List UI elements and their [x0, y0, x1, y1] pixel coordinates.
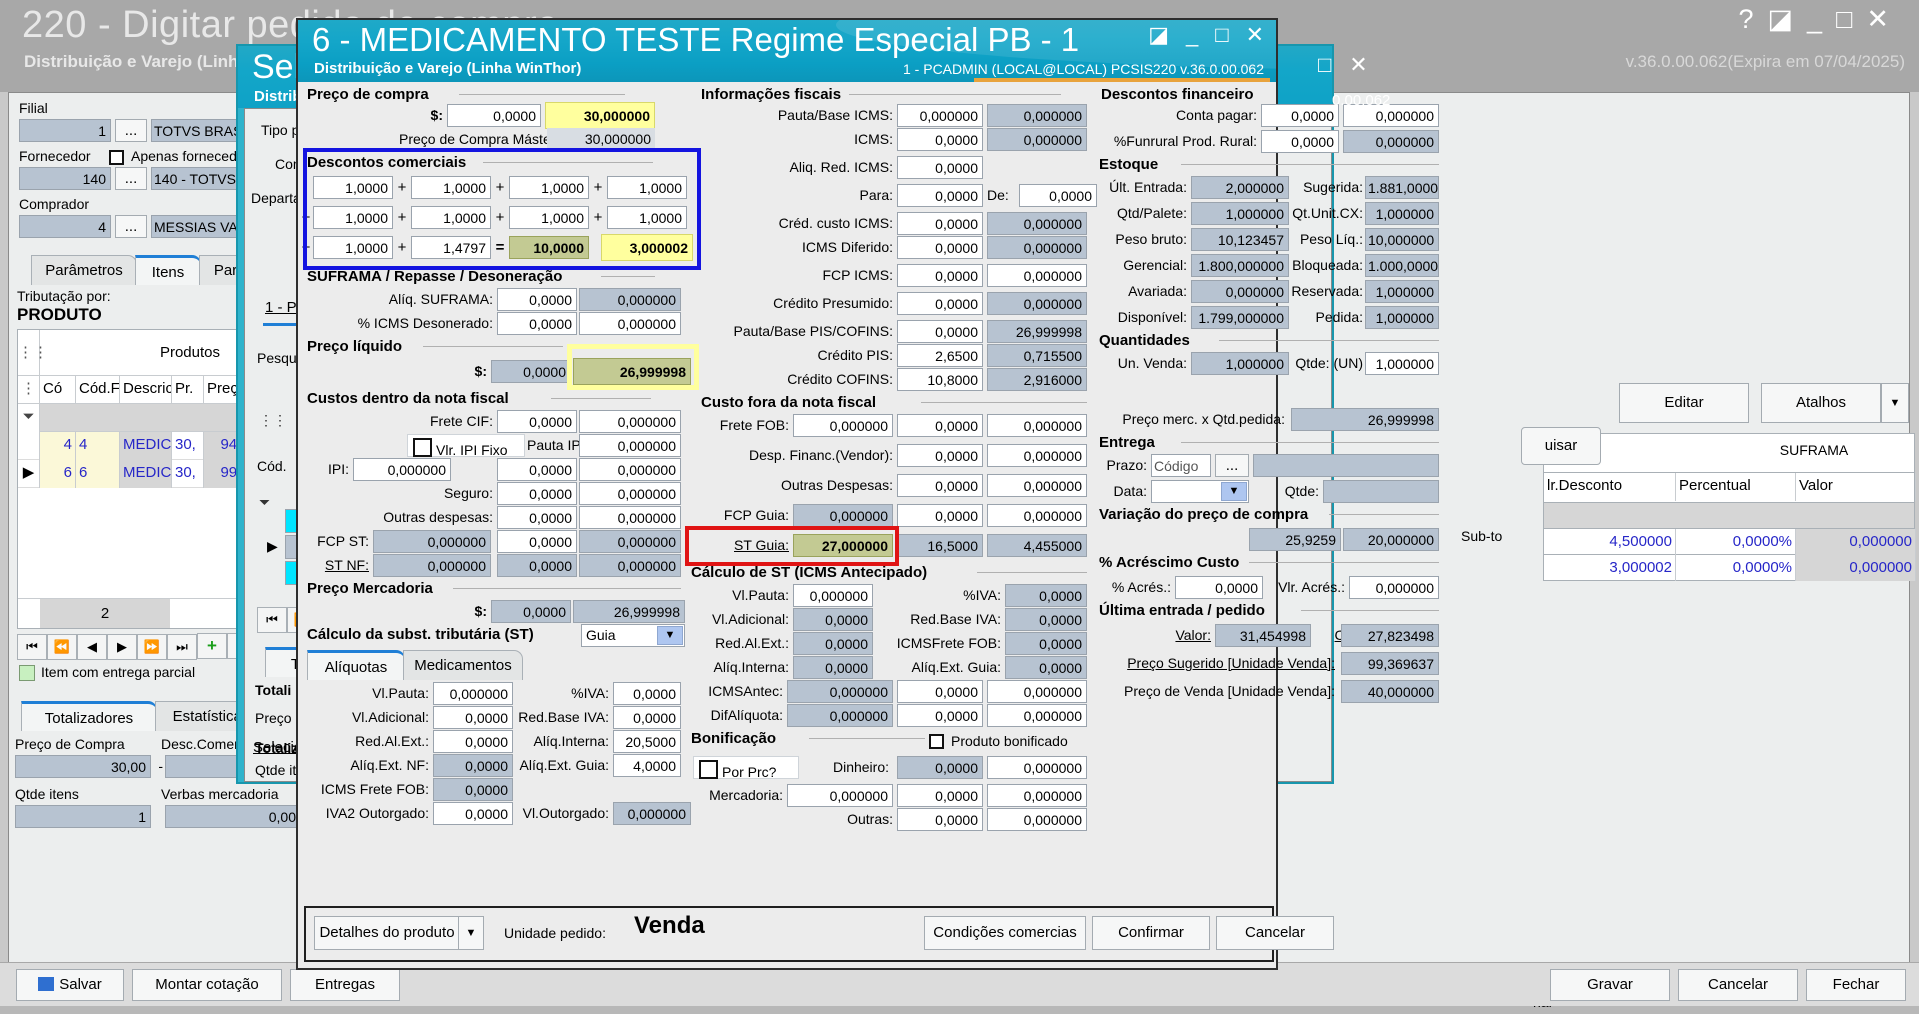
st-redalext-value[interactable]: 0,0000: [433, 730, 513, 753]
desc-r2-c1[interactable]: 1,0000: [313, 206, 393, 229]
cell-descr: MEDICA: [120, 432, 172, 460]
preco-merc-left: 0,0000: [491, 600, 571, 623]
st-aliqinterna-label: Alíq.Interna:: [507, 730, 609, 753]
desc-r3-c2[interactable]: 1,4797: [411, 236, 491, 259]
aliq-suframa-input[interactable]: 0,0000: [497, 288, 577, 311]
est-0-l2: Sugerida:: [1293, 176, 1363, 199]
por-prc-checkbox[interactable]: [699, 760, 718, 779]
outras-despesas-v2[interactable]: 0,000000: [579, 506, 681, 529]
cf-3-v0: 0,000000: [793, 504, 893, 527]
por-prc-label: Por Prc?: [722, 764, 776, 780]
row-selector-icon-2: ▶: [267, 535, 278, 558]
ipi-v2[interactable]: 0,000000: [579, 458, 681, 481]
desc-r2-c2[interactable]: 1,0000: [411, 206, 491, 229]
icms-desonerado-label: % ICMS Desonerado:: [311, 312, 493, 335]
cell-cod: 4: [40, 432, 76, 460]
departamento-label: Departa: [251, 187, 301, 210]
group-calc-st-antecipado: Cálculo de ST (ICMS Antecipado): [691, 564, 927, 581]
qtde-itens-label: Qtde itens: [15, 783, 79, 806]
cst-l2-value: 0,0000: [793, 632, 873, 655]
mercadoria-v2[interactable]: 0,000000: [987, 784, 1087, 807]
comprador-browse-button[interactable]: ...: [115, 215, 147, 238]
plus-sign: +: [591, 206, 605, 229]
tab-medicamentos[interactable]: Medicamentos: [403, 650, 523, 680]
plus-sign: +: [591, 176, 605, 199]
if-7-v2: 0,000000: [987, 292, 1087, 315]
outras-despesas-v1[interactable]: 0,0000: [497, 506, 577, 529]
entrega-qtde-label: Qtde:: [1253, 480, 1319, 503]
editar-button[interactable]: Editar: [1619, 383, 1749, 423]
restore-icon[interactable]: ◪: [1768, 4, 1808, 34]
frete-cif-label: Frete CIF:: [311, 410, 493, 433]
dlg-maximize-icon[interactable]: □: [1215, 22, 1228, 47]
frete-cif-v1[interactable]: 0,0000: [497, 410, 577, 433]
cf-0-v2[interactable]: 0,000000: [987, 414, 1087, 437]
preco-sugerido-value: 99,369637: [1341, 652, 1439, 675]
cf-0-label: Frete FOB:: [691, 414, 789, 437]
row-selector-icon: ▶: [18, 460, 40, 488]
entrega-qtde-value: [1323, 480, 1439, 503]
cf-4-label[interactable]: ST Guia:: [691, 534, 789, 557]
vlr-ipi-fixo-checkbox-wrap[interactable]: Vlr. IPI Fixo: [407, 434, 525, 457]
pct-acres-label: % Acrés.:: [1091, 576, 1171, 599]
preco-merc-qtd-label: Preço merc. x Qtd.pedida:: [1091, 408, 1285, 431]
group-custo-fora: Custo fora da nota fiscal: [701, 394, 876, 411]
if-0-v1[interactable]: 0,000000: [897, 104, 983, 127]
cst-w0-label: ICMSAntec:: [687, 680, 783, 703]
st-aliqextnf-value: 0,0000: [433, 754, 513, 777]
comprador-code-input[interactable]: 4: [19, 215, 111, 238]
right-grid-filter-row[interactable]: [1543, 503, 1915, 529]
pesquisar-button[interactable]: uisar: [1521, 427, 1601, 465]
cell-pr: 30,: [172, 432, 204, 460]
ipi-label: IPI:: [311, 458, 349, 481]
desc-r1-c2[interactable]: 1,0000: [411, 176, 491, 199]
cst-w0-v1[interactable]: 0,0000: [897, 680, 983, 703]
cell-desconto: 4,500000: [1544, 529, 1676, 555]
produto-bonificado-checkbox[interactable]: [929, 734, 944, 749]
table-row[interactable]: 4,500000 0,0000% 0,000000: [1543, 529, 1915, 555]
df-1-v2: 0,000000: [1343, 130, 1439, 153]
filter-icon-2[interactable]: ⏷: [259, 491, 270, 514]
cell-percentual: 0,0000%: [1676, 529, 1796, 555]
seguro-v2[interactable]: 0,000000: [579, 482, 681, 505]
if-0-label: Pauta/Base ICMS:: [701, 104, 893, 127]
cell-desconto: 3,000002: [1544, 555, 1676, 581]
if-1-v1[interactable]: 0,0000: [897, 128, 983, 151]
grid-handle-icon-3: ⋮⋮: [259, 409, 287, 432]
if-3-v1[interactable]: 0,0000: [897, 184, 983, 207]
select-dialog-version: 0.00.062: [1332, 92, 1390, 109]
cst-w0-v2[interactable]: 0,000000: [987, 680, 1087, 703]
gravar-button[interactable]: Gravar: [1550, 969, 1670, 1001]
pauta-ipi-value[interactable]: 0,000000: [579, 434, 681, 457]
dinheiro-v1[interactable]: 0,000000: [987, 756, 1087, 779]
est-5-l1: Disponível:: [1091, 306, 1187, 329]
grid-row-count: 2: [40, 599, 170, 628]
est-1-v2: 1,000000: [1365, 202, 1439, 225]
est-2-v2: 10,000000: [1365, 228, 1439, 251]
bonif-outras-v2[interactable]: 0,000000: [987, 808, 1087, 831]
cancelar-button[interactable]: Cancelar: [1678, 969, 1798, 1001]
if-10-v1[interactable]: 10,8000: [897, 368, 983, 391]
est-3-v1: 1.800,000000: [1191, 254, 1289, 277]
icms-desonerado-input[interactable]: 0,0000: [497, 312, 577, 335]
filter-icon[interactable]: ⏷: [18, 404, 40, 432]
cf-1-v1[interactable]: 0,0000: [897, 444, 983, 467]
desc-r1-c3[interactable]: 1,0000: [509, 176, 589, 199]
preco-merc-dollar-label: $:: [443, 600, 487, 623]
if-2-v1[interactable]: 0,0000: [897, 156, 983, 179]
st-vladicional-value[interactable]: 0,0000: [433, 706, 513, 729]
sel-nav-first-button[interactable]: ⏮: [257, 607, 287, 633]
nav-first-button[interactable]: ⏮: [17, 634, 47, 660]
col-cod[interactable]: Có: [40, 376, 76, 404]
legend-color-swatch: [19, 665, 35, 681]
detalhes-produto-button[interactable]: Detalhes do produto: [314, 916, 460, 950]
un-venda-label: Un. Venda:: [1091, 352, 1187, 375]
prazo-browse-button[interactable]: ...: [1215, 454, 1249, 477]
table-row[interactable]: 3,000002 0,0000% 0,000000: [1543, 555, 1915, 581]
preco-liquido-right: 26,999998: [573, 358, 691, 385]
qtde-itens-value: 1: [15, 805, 151, 828]
frete-cif-v2[interactable]: 0,000000: [579, 410, 681, 433]
group-suframa: SUFRAMA / Repasse / Desoneração: [307, 268, 562, 285]
fornecedor-label: Fornecedor: [19, 145, 91, 168]
df-0-label: Conta pagar:: [1101, 104, 1257, 127]
cst-l2-label: Red.Al.Ext.:: [701, 632, 789, 655]
if-9-v1[interactable]: 2,6500: [897, 344, 983, 367]
atalhos-button[interactable]: Atalhos: [1761, 383, 1881, 423]
if-8-v1[interactable]: 0,0000: [897, 320, 983, 343]
est-3-l1: Gerencial:: [1091, 254, 1187, 277]
preco-sugerido-label[interactable]: Preço Sugerido [Unidade Venda]:: [1091, 652, 1335, 675]
aliq-suframa-value: 0,000000: [579, 288, 681, 311]
grid-handle-icon: ⋮⋮: [18, 330, 40, 375]
dialog-titlebar: 6 - MEDICAMENTO TESTE Regime Especial PB…: [298, 20, 1276, 82]
cf-2-label: Outras Despesas:: [691, 474, 893, 497]
rcol-desconto[interactable]: lr.Desconto: [1544, 473, 1676, 501]
dlg-restore-icon[interactable]: ◪: [1148, 22, 1169, 47]
group-variacao: Variação do preço de compra: [1099, 506, 1308, 523]
st-mode-select[interactable]: Guia ▼: [581, 624, 685, 647]
tab-parametros[interactable]: Parâmetros: [31, 255, 137, 285]
produto-bonificado-label: Produto bonificado: [951, 730, 1068, 753]
cf-3-v1[interactable]: 0,0000: [897, 504, 983, 527]
plus-sign: +: [493, 176, 507, 199]
st-nf-label[interactable]: ST NF:: [311, 554, 369, 577]
chevron-down-icon[interactable]: ▼: [657, 626, 683, 645]
fechar-button[interactable]: Fechar: [1806, 969, 1906, 1001]
cst-w1-v1[interactable]: 0,0000: [897, 704, 983, 727]
ipi-v0[interactable]: 0,000000: [353, 458, 451, 481]
plus-sign: +: [493, 206, 507, 229]
preco-merc-qtd-value: 26,999998: [1291, 408, 1439, 431]
est-4-v1: 0,000000: [1191, 280, 1289, 303]
select-dialog-window-buttons[interactable]: □✕: [1318, 52, 1368, 78]
cell-descr: MEDICA: [120, 460, 172, 488]
plus-sign: +: [299, 206, 313, 229]
cf-3-label: FCP Guia:: [691, 504, 789, 527]
filial-code-input[interactable]: 1: [19, 119, 111, 142]
fornecedor-code-input[interactable]: 140: [19, 167, 111, 190]
st-vlpauta-label: Vl.Pauta:: [311, 682, 429, 705]
sel-close-icon[interactable]: ✕: [1349, 52, 1367, 77]
rcol-percentual[interactable]: Percentual: [1676, 473, 1796, 501]
comprador-label: Comprador: [19, 193, 89, 216]
filial-browse-button[interactable]: ...: [115, 119, 147, 142]
cst-w1-v2[interactable]: 0,000000: [987, 704, 1087, 727]
atalhos-dropdown-arrow-icon[interactable]: ▼: [1881, 383, 1909, 423]
cell-valor: 0,000000: [1796, 529, 1916, 555]
apenas-fornecedores-checkbox[interactable]: [109, 150, 124, 165]
desc-r1-c1[interactable]: 1,0000: [313, 176, 393, 199]
group-bonificacao: Bonificação: [691, 730, 776, 747]
sel-maximize-icon[interactable]: □: [1318, 52, 1331, 77]
cst-w1-label: DifAlíquota:: [687, 704, 783, 727]
outras-despesas-label: Outras despesas:: [311, 506, 493, 529]
if-6-label: FCP ICMS:: [701, 264, 893, 287]
unidade-pedido-value: Venda: [634, 914, 705, 937]
condicoes-comerciais-button[interactable]: Condições comercias: [924, 916, 1086, 950]
detalhes-dropdown-arrow-icon[interactable]: ▼: [458, 916, 484, 950]
vlr-acres-value[interactable]: 0,000000: [1349, 576, 1439, 599]
desc-r2-c3[interactable]: 1,0000: [509, 206, 589, 229]
if-2-label: Aliq. Red. ICMS:: [701, 156, 893, 179]
cf-2-v2[interactable]: 0,000000: [987, 474, 1087, 497]
group-info-fiscais: Informações fiscais: [701, 86, 841, 103]
desc-r3-c1[interactable]: 1,0000: [313, 236, 393, 259]
dlg-close-icon[interactable]: ✕: [1246, 22, 1264, 47]
est-2-l2: Peso Líq.:: [1289, 228, 1363, 251]
right-grid-group-suframa: SUFRAMA: [1714, 442, 1914, 458]
df-0-v1[interactable]: 0,0000: [1261, 104, 1339, 127]
if-4-v1[interactable]: 0,0000: [897, 212, 983, 235]
unidade-pedido-label: Unidade pedido:: [504, 922, 606, 945]
nav-nextpage-button[interactable]: ⏩: [137, 634, 167, 660]
est-5-v1: 1.799,000000: [1191, 306, 1289, 329]
nav-add-button[interactable]: +: [197, 633, 227, 659]
if-3-de-value[interactable]: 0,0000: [1019, 184, 1097, 207]
preco-compra-left-input[interactable]: 0,0000: [447, 104, 541, 127]
close-icon[interactable]: ✕: [1866, 4, 1903, 34]
totaliz-label: Totali: [255, 679, 291, 702]
dialog-window-buttons[interactable]: ◪_□✕: [1131, 22, 1264, 48]
if-7-label: Crédito Presumido:: [701, 292, 893, 315]
tab-totalizadores[interactable]: Totalizadores: [21, 701, 157, 731]
group-estoque: Estoque: [1099, 156, 1158, 173]
cf-0-v1[interactable]: 0,0000: [897, 414, 983, 437]
valor-label[interactable]: Valor:: [1151, 624, 1211, 647]
nav-last-button[interactable]: ⏭: [167, 634, 197, 660]
cod-label: Cód.: [257, 455, 287, 478]
est-0-v2: 1.881,000000: [1365, 176, 1439, 199]
mercadoria-v0[interactable]: 0,000000: [787, 784, 893, 807]
entregas-button[interactable]: Entregas: [290, 969, 400, 1001]
help-icon[interactable]: ?: [1738, 4, 1767, 34]
cf-4-v0[interactable]: 27,000000: [793, 534, 893, 557]
est-5-v2: 1,000000: [1365, 306, 1439, 329]
st-aliqextguia-value[interactable]: 4,0000: [613, 754, 681, 777]
dialog-footer: Detalhes do produto ▼ Unidade pedido: Ve…: [304, 906, 1274, 962]
cst-r1-value: 0,0000: [1005, 608, 1087, 631]
if-6-v2[interactable]: 0,000000: [987, 264, 1087, 287]
group-preco-compra: Preço de compra: [307, 86, 429, 103]
if-10-label: Crédito COFINS:: [701, 368, 893, 391]
por-prc-checkbox-wrap[interactable]: Por Prc?: [693, 756, 799, 779]
st-redbaseiva-value[interactable]: 0,0000: [613, 706, 681, 729]
tab-aliquotas[interactable]: Alíquotas: [307, 650, 405, 680]
cf-3-v2[interactable]: 0,000000: [987, 504, 1087, 527]
pct-acres-value[interactable]: 0,0000: [1175, 576, 1263, 599]
ipi-v1[interactable]: 0,0000: [497, 458, 577, 481]
if-5-v1[interactable]: 0,0000: [897, 236, 983, 259]
st-iva2outorgado-value[interactable]: 0,0000: [433, 802, 513, 825]
filial-label: Filial: [19, 97, 48, 120]
nav-next-button[interactable]: ▶: [107, 634, 137, 660]
preco-compra-total-label: Preço de Compra: [15, 733, 125, 756]
icms-desonerado-value[interactable]: 0,000000: [579, 312, 681, 335]
cancelar-dialog-button[interactable]: Cancelar: [1216, 916, 1334, 950]
confirmar-button[interactable]: Confirmar: [1092, 916, 1210, 950]
dinheiro-v0: 0,0000: [897, 756, 983, 779]
cell-codf: 4: [76, 432, 120, 460]
st-vlpauta-value[interactable]: 0,000000: [433, 682, 513, 705]
est-3-v2: 1.000,000000: [1365, 254, 1439, 277]
mercadoria-v1[interactable]: 0,0000: [897, 784, 983, 807]
desc-r2-c4[interactable]: 1,0000: [607, 206, 687, 229]
st-aliqextnf-label: Alíq.Ext. NF:: [311, 754, 429, 777]
st-nf-v1: 0,0000: [497, 554, 577, 577]
est-2-v1: 10,123457: [1191, 228, 1289, 251]
salvar-label: Salvar: [59, 976, 102, 993]
cst-l3-value: 0,0000: [793, 656, 873, 679]
est-4-v2: 1,000000: [1365, 280, 1439, 303]
cf-1-v2[interactable]: 0,000000: [987, 444, 1087, 467]
desc-r1-c4[interactable]: 1,0000: [607, 176, 687, 199]
qtde-un-label: Qtde: (UN): [1289, 352, 1363, 375]
vlr-ipi-fixo-checkbox[interactable]: [413, 438, 432, 457]
group-quantidades: Quantidades: [1099, 332, 1190, 349]
montar-cotacao-button[interactable]: Montar cotação: [132, 969, 282, 1001]
st-vloutorgado-value: 0,000000: [613, 802, 691, 825]
prazo-label: Prazo:: [1091, 454, 1147, 477]
cell-codf: 6: [76, 460, 120, 488]
st-vloutorgado-label: Vl.Outorgado:: [507, 802, 609, 825]
cst-w0-v0: 0,000000: [787, 680, 893, 703]
cf-4-v2: 4,455000: [987, 534, 1087, 557]
dialog-subtitle: Distribuição e Varejo (Linha WinThor): [314, 60, 581, 77]
product-detail-dialog: 6 - MEDICAMENTO TESTE Regime Especial PB…: [296, 18, 1278, 970]
est-1-v1: 1,000000: [1191, 202, 1289, 225]
cst-r3-label: Alíq.Ext. Guia:: [885, 656, 1001, 679]
st-aliqinterna-value[interactable]: 20,5000: [613, 730, 681, 753]
cst-w1-v0: 0,000000: [787, 704, 893, 727]
cst-r1-label: Red.Base IVA:: [885, 608, 1001, 631]
preco-compra-dollar-label: $:: [401, 104, 443, 127]
est-3-l2: Bloqueada:: [1283, 254, 1363, 277]
prazo-input[interactable]: Código: [1151, 454, 1211, 477]
fornecedor-browse-button[interactable]: ...: [115, 167, 147, 190]
preco-compra-master-label: Preço de Compra Máster: [399, 128, 545, 151]
grid-handle-icon-2: ⋮⋮: [18, 376, 40, 404]
nav-prev-button[interactable]: ◀: [77, 634, 107, 660]
dinheiro-label: Dinheiro:: [801, 756, 889, 779]
preco-liquido-dollar-label: $:: [443, 360, 487, 383]
col-codf[interactable]: Cód.F: [76, 376, 120, 404]
bonif-outras-v1[interactable]: 0,0000: [897, 808, 983, 831]
bg-window-buttons[interactable]: ?◪_□✕: [1738, 4, 1903, 35]
est-1-l1: Qtd/Palete:: [1091, 202, 1187, 225]
plus-sign: +: [395, 206, 409, 229]
minus-sign: -: [153, 755, 163, 778]
minimize-icon[interactable]: _: [1807, 4, 1836, 34]
cst-l0-value[interactable]: 0,000000: [793, 584, 873, 607]
preco-compra-right-value[interactable]: 30,000000: [545, 102, 655, 129]
col-descric[interactable]: Descric: [120, 376, 172, 404]
dialog-status-right: 1 - PCADMIN (LOCAL@LOCAL) PCSIS220 v.36.…: [903, 61, 1264, 77]
group-custos-dentro: Custos dentro da nota fiscal: [307, 390, 509, 407]
maximize-icon[interactable]: □: [1836, 4, 1866, 34]
fcp-st-v1[interactable]: 0,0000: [497, 530, 577, 553]
est-0-v1: 2,000000: [1191, 176, 1289, 199]
step-1-label[interactable]: 1 - P: [265, 299, 297, 316]
data-datepicker[interactable]: ▼: [1151, 480, 1249, 503]
fcp-st-v2: 0,000000: [579, 530, 681, 553]
dlg-minimize-icon[interactable]: _: [1186, 22, 1198, 47]
if-4-v2: 0,000000: [987, 212, 1087, 235]
group-desc-financeiro: Descontos financeiro: [1101, 86, 1254, 103]
est-4-l2: Reservada:: [1283, 280, 1363, 303]
verbas-label: Verbas mercadoria: [161, 783, 279, 806]
rcol-valor[interactable]: Valor: [1796, 473, 1916, 501]
select-dialog-subtitle: Distrib: [254, 88, 302, 105]
df-1-v1[interactable]: 0,0000: [1261, 130, 1339, 153]
chevron-down-icon-2[interactable]: ▼: [1221, 482, 1247, 501]
prazo-desc-field: [1253, 454, 1439, 477]
if-7-v1[interactable]: 0,0000: [897, 292, 983, 315]
preco-merc-right: 26,999998: [573, 600, 685, 623]
dialog-title: 6 - MEDICAMENTO TESTE Regime Especial PB…: [312, 21, 1079, 59]
tab-itens[interactable]: Itens: [135, 255, 201, 285]
save-icon: [38, 977, 54, 991]
if-6-v1[interactable]: 0,0000: [897, 264, 983, 287]
plus-sign: +: [299, 236, 313, 259]
cell-percentual: 0,0000%: [1676, 555, 1796, 581]
preco-compra-master-value: 30,000000: [547, 128, 655, 151]
selecionar-link[interactable]: Selecio: [253, 739, 302, 756]
if-5-v2: 0,000000: [987, 236, 1087, 259]
qtde-un-value[interactable]: 1,000000: [1365, 352, 1439, 375]
cf-0-v0[interactable]: 0,000000: [793, 414, 893, 437]
custo-value: 27,823498: [1341, 624, 1439, 647]
cst-r0-value: 0,0000: [1005, 584, 1087, 607]
st-tabbar: Alíquotas Medicamentos: [307, 650, 537, 680]
st-redalext-label: Red.Al.Ext.:: [311, 730, 429, 753]
st-iva-value[interactable]: 0,0000: [613, 682, 681, 705]
nav-prevpage-button[interactable]: ⏪: [47, 634, 77, 660]
cst-r2-label: ICMSFrete FOB:: [885, 632, 1001, 655]
variacao-v2: 20,000000: [1343, 528, 1439, 551]
dialog-content: Preço de compra $: 0,0000 30,000000 Preç…: [301, 82, 1275, 906]
cell-valor: 0,000000: [1796, 555, 1916, 581]
col-pr[interactable]: Pr.: [172, 376, 204, 404]
seguro-v1[interactable]: 0,0000: [497, 482, 577, 505]
salvar-button[interactable]: Salvar: [16, 969, 124, 1001]
cf-2-v1[interactable]: 0,0000: [897, 474, 983, 497]
preco-venda-label: Preço de Venda [Unidade Venda]:: [1091, 680, 1335, 703]
aliq-suframa-label: Alíq. SUFRAMA:: [311, 288, 493, 311]
